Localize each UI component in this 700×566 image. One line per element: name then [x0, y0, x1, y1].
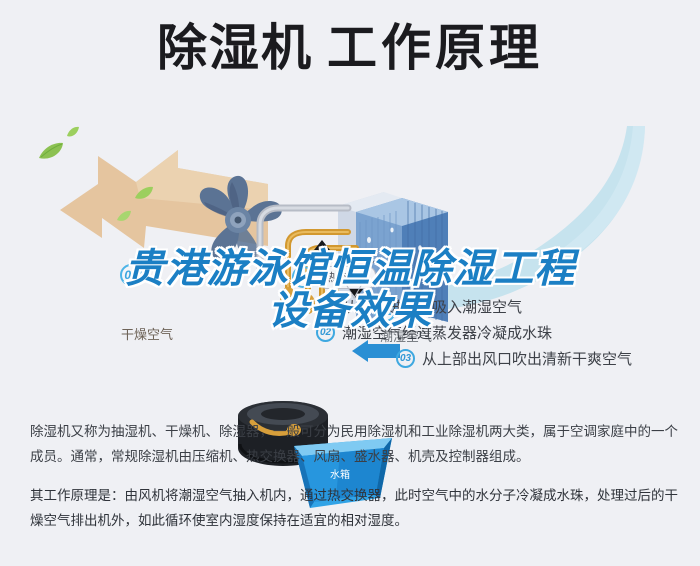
- leaf-icon: [38, 142, 64, 162]
- diagram-badge-02: 02: [292, 266, 314, 288]
- step-text-03: 从上部出风口吹出清新干爽空气: [422, 348, 632, 369]
- diagram-badge-03: 03: [120, 264, 142, 286]
- label-dry-air: 干燥空气: [121, 324, 173, 343]
- step-badge-02: 02: [316, 323, 335, 342]
- step-item-01: 01 从下部进风口吸入潮湿空气: [316, 296, 522, 317]
- step-text-02: 潮湿空气经过蒸发器冷凝成水珠: [342, 322, 552, 343]
- description-text: 除湿机又称为抽湿机、干燥机、除湿器，一般可分为民用除湿机和工业除湿机两大类，属于…: [30, 420, 678, 548]
- step-badge-01: 01: [316, 297, 335, 316]
- step-text-01: 从下部进风口吸入潮湿空气: [342, 296, 522, 317]
- page-title-part2: 工作原理: [327, 20, 543, 76]
- page-title-part1: 除湿机: [157, 20, 313, 76]
- step-item-02: 02 潮湿空气经过蒸发器冷凝成水珠: [316, 322, 552, 343]
- description-paragraph-1: 除湿机又称为抽湿机、干燥机、除湿器，一般可分为民用除湿机和工业除湿机两大类，属于…: [30, 420, 678, 470]
- leaf-icon: [134, 186, 154, 201]
- leaf-icon: [66, 126, 80, 138]
- description-paragraph-2: 其工作原理是：由风机将潮湿空气抽入机内，通过热交换器，此时空气中的水分子冷凝成水…: [30, 484, 678, 534]
- leaf-icon: [116, 210, 132, 223]
- step-item-03: 03 从上部出风口吹出清新干爽空气: [396, 348, 632, 369]
- step-badge-03: 03: [396, 349, 415, 368]
- page-title: 除湿机工作原理: [0, 22, 700, 75]
